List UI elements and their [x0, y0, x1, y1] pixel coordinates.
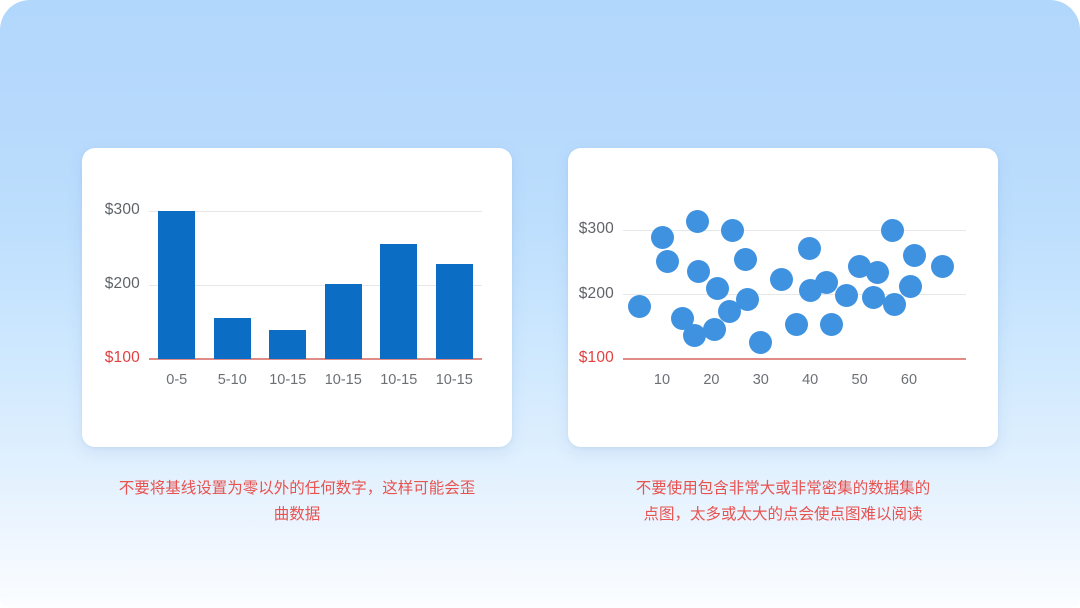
- scatter-point: [881, 219, 904, 242]
- bar-chart-warning-caption: 不要将基线设置为零以外的任何数字，这样可能会歪 曲数据: [67, 476, 527, 528]
- scatter-point: [899, 275, 922, 298]
- y-axis-tick-label: $300: [82, 201, 140, 219]
- caption-line: 曲数据: [67, 502, 527, 528]
- y-axis-tick-label: $300: [556, 220, 614, 238]
- scatter-point: [628, 295, 651, 318]
- gridline: [149, 211, 482, 212]
- scatter-point: [835, 284, 858, 307]
- bar: [269, 330, 306, 359]
- scatter-point: [736, 288, 759, 311]
- scatter-point: [749, 331, 772, 354]
- bar: [214, 318, 251, 359]
- scatter-point: [785, 313, 808, 336]
- y-axis-tick-label: $200: [556, 285, 614, 303]
- scatter-chart-plot-area: $300$200$100102030405060: [568, 148, 998, 447]
- scatter-point: [734, 248, 757, 271]
- bar: [436, 264, 473, 359]
- scatter-point: [931, 255, 954, 278]
- caption-line: 不要将基线设置为零以外的任何数字，这样可能会歪: [67, 476, 527, 502]
- y-axis-tick-label: $100: [82, 349, 140, 367]
- scatter-point: [703, 318, 726, 341]
- scatter-point: [820, 313, 843, 336]
- gridline: [623, 230, 966, 231]
- scatter-point: [706, 277, 729, 300]
- scatter-point: [815, 271, 838, 294]
- scatter-point: [687, 260, 710, 283]
- scatter-point: [903, 244, 926, 267]
- bar-chart-plot-area: $300$200$1000-55-1010-1510-1510-1510-15: [82, 148, 512, 447]
- caption-line: 点图，太多或太大的点会使点图难以阅读: [553, 502, 1013, 528]
- bar: [325, 284, 362, 359]
- scatter-chart-warning-caption: 不要使用包含非常大或非常密集的数据集的 点图，太多或太大的点会使点图难以阅读: [553, 476, 1013, 528]
- scatter-chart-card: $300$200$100102030405060: [568, 148, 998, 447]
- y-axis-tick-label: $100: [556, 349, 614, 367]
- scatter-point: [866, 261, 889, 284]
- x-axis-tick-label: 60: [879, 372, 939, 388]
- scatter-point: [862, 286, 885, 309]
- scatter-point: [656, 250, 679, 273]
- bar-chart-card: $300$200$1000-55-1010-1510-1510-1510-15: [82, 148, 512, 447]
- scatter-point: [798, 237, 821, 260]
- bar: [158, 211, 195, 359]
- slide-canvas: $300$200$1000-55-1010-1510-1510-1510-15 …: [0, 0, 1080, 608]
- scatter-point: [721, 219, 744, 242]
- gridline: [149, 285, 482, 286]
- baseline-rule: [623, 358, 966, 360]
- caption-line: 不要使用包含非常大或非常密集的数据集的: [553, 476, 1013, 502]
- bar: [380, 244, 417, 359]
- y-axis-tick-label: $200: [82, 275, 140, 293]
- baseline-rule: [149, 358, 482, 360]
- scatter-point: [770, 268, 793, 291]
- x-axis-tick-label: 10-15: [414, 372, 494, 388]
- scatter-point: [883, 293, 906, 316]
- scatter-point: [651, 226, 674, 249]
